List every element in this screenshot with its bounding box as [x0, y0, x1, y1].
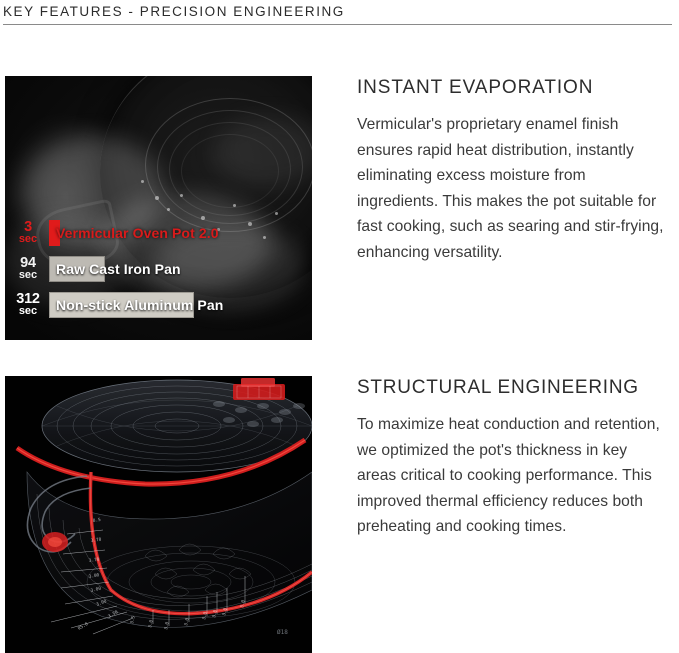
svg-text:Ø18: Ø18: [277, 629, 288, 636]
bar-track: Raw Cast Iron Pan: [49, 256, 312, 282]
bar-number: 94: [7, 257, 49, 270]
bar-value-vermicular: 3 sec: [5, 221, 49, 246]
water-droplet: [180, 194, 183, 197]
evaporation-bar-chart: 3 sec Vermicular Oven Pot 2.0 94 sec Raw…: [5, 215, 312, 323]
cad-photo-backdrop: 8.5 3.70 3.70 3.00 3.00 3.00 3.50 R5.0 3…: [5, 376, 312, 653]
chart-bar-row: 3 sec Vermicular Oven Pot 2.0: [5, 215, 312, 251]
water-droplet: [233, 204, 236, 207]
bar-number: 312: [7, 293, 49, 306]
svg-text:8.5: 8.5: [92, 517, 101, 524]
feature-text-instant-evaporation: INSTANT EVAPORATION Vermicular's proprie…: [357, 76, 669, 265]
page-title: KEY FEATURES - PRECISION ENGINEERING: [3, 0, 675, 22]
feature-block-instant-evaporation: 3 sec Vermicular Oven Pot 2.0 94 sec Raw…: [5, 76, 669, 340]
feature-heading-structural-engineering: STRUCTURAL ENGINEERING: [357, 376, 669, 400]
bar-label-non-stick: Non-stick Aluminum Pan: [49, 297, 223, 313]
feature-paragraph-structural-engineering: To maximize heat conduction and retentio…: [357, 412, 669, 540]
feature-image-steaming-pot: 3 sec Vermicular Oven Pot 2.0 94 sec Raw…: [5, 76, 312, 340]
water-droplet: [141, 180, 144, 183]
feature-heading-instant-evaporation: INSTANT EVAPORATION: [357, 76, 669, 100]
feature-block-structural-engineering: 8.5 3.70 3.70 3.00 3.00 3.00 3.50 R5.0 3…: [5, 376, 669, 653]
water-droplet: [155, 196, 159, 200]
cad-wireframe-drawing: 8.5 3.70 3.70 3.00 3.00 3.00 3.50 R5.0 3…: [5, 376, 312, 653]
bar-value-non-stick: 312 sec: [5, 293, 49, 318]
bar-value-cast-iron: 94 sec: [5, 257, 49, 282]
feature-image-cad-wireframe: 8.5 3.70 3.70 3.00 3.00 3.00 3.50 R5.0 3…: [5, 376, 312, 653]
section-header: KEY FEATURES - PRECISION ENGINEERING: [3, 0, 675, 25]
bar-unit: sec: [7, 269, 49, 282]
feature-paragraph-instant-evaporation: Vermicular's proprietary enamel finish e…: [357, 112, 669, 265]
bar-unit: sec: [7, 305, 49, 318]
bar-track: Non-stick Aluminum Pan: [49, 292, 312, 318]
water-droplet: [167, 208, 170, 211]
bar-label-cast-iron: Raw Cast Iron Pan: [49, 261, 181, 277]
bar-unit: sec: [7, 233, 49, 246]
feature-text-structural-engineering: STRUCTURAL ENGINEERING To maximize heat …: [357, 376, 669, 540]
chart-bar-row: 312 sec Non-stick Aluminum Pan: [5, 287, 312, 323]
bar-track: Vermicular Oven Pot 2.0: [49, 220, 312, 246]
header-divider: [3, 24, 672, 25]
bar-label-vermicular: Vermicular Oven Pot 2.0: [49, 225, 219, 241]
bar-number: 3: [7, 221, 49, 234]
chart-bar-row: 94 sec Raw Cast Iron Pan: [5, 251, 312, 287]
